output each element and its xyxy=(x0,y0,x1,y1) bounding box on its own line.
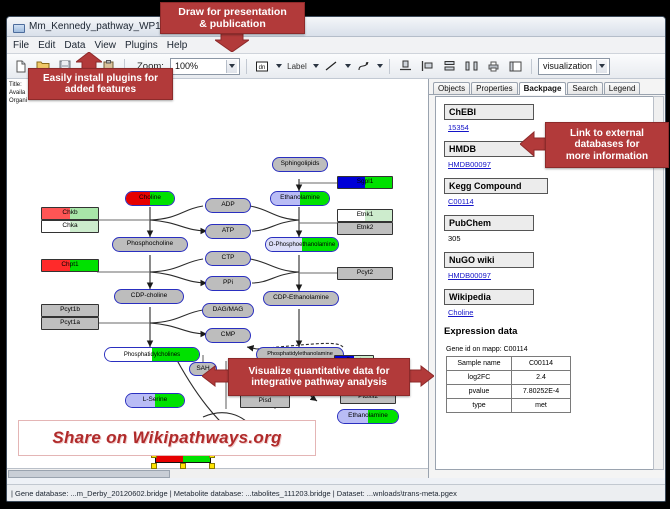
node-l-serine-left[interactable]: L-Serine xyxy=(125,393,185,408)
node-ethanolamine-bottom[interactable]: Ethanolamine xyxy=(337,409,399,424)
callout-external-links: Link to external databases for more info… xyxy=(545,122,669,168)
node-label: Ethanolamine xyxy=(280,195,320,202)
cell-value: 7.80252E-4 xyxy=(512,385,571,399)
cell-key: type xyxy=(447,399,512,413)
menu-bar: File Edit Data View Plugins Help xyxy=(7,37,665,54)
section-header-pubchem: PubChem xyxy=(444,215,534,231)
node-label: Ethanolamine xyxy=(348,413,388,420)
callout-draw-for-publication: Draw for presentation & publication xyxy=(160,2,305,34)
chevron-down-icon[interactable] xyxy=(377,64,383,68)
screenshot-root: Mm_Kennedy_pathway_WP1771_45176.gpml Fil… xyxy=(0,0,670,509)
align-bottom-icon[interactable] xyxy=(396,57,415,76)
gene-label: Pcyt1a xyxy=(60,320,80,327)
selection-handle[interactable] xyxy=(209,463,215,469)
chevron-down-icon[interactable] xyxy=(313,64,319,68)
gene-label: Pcyt2 xyxy=(357,270,373,277)
node-sphingolipids[interactable]: Sphingolipids xyxy=(272,157,328,172)
toolbar-separator xyxy=(389,59,390,74)
svg-text:dn: dn xyxy=(259,65,266,71)
node-label: PPi xyxy=(223,280,233,287)
tab-legend[interactable]: Legend xyxy=(604,82,641,94)
menu-item-file[interactable]: File xyxy=(13,40,29,51)
interaction-icon[interactable] xyxy=(354,57,373,76)
cell-value: 2.4 xyxy=(512,371,571,385)
callout-line: Draw for presentation xyxy=(178,6,287,18)
toolbar-separator xyxy=(531,59,532,74)
sidebar-tabs: Objects Properties Backpage Search Legen… xyxy=(429,79,665,95)
gene-label: Chka xyxy=(62,223,77,230)
datanode-icon[interactable]: dn xyxy=(253,57,272,76)
node-label: CDP-choline xyxy=(131,293,168,300)
status-text: | Gene database: ...m_Derby_20120602.bri… xyxy=(11,489,457,498)
callout-visualize-data: Visualize quantitative data for integrat… xyxy=(228,358,410,396)
node-atp[interactable]: ATP xyxy=(205,224,251,239)
sidebar-icon[interactable] xyxy=(506,57,525,76)
callout-line: & publication xyxy=(199,18,266,30)
callout-arrow-left-icon xyxy=(202,364,230,388)
expression-table: Sample name C00114 log2FC 2.4 pvalue 7.8… xyxy=(446,356,571,413)
align-left-icon[interactable] xyxy=(418,57,437,76)
node-choline-top[interactable]: Choline xyxy=(125,191,175,206)
tab-backpage[interactable]: Backpage xyxy=(519,82,567,95)
nugo-link[interactable]: HMDB00097 xyxy=(448,271,658,280)
gene-chpt1[interactable]: Chpt1 xyxy=(41,259,99,272)
section-header-chebi: ChEBI xyxy=(444,104,534,120)
selection-handle[interactable] xyxy=(180,463,186,469)
gene-etnk1[interactable]: Etnk1 xyxy=(337,209,393,222)
node-label: CDP-Ethanolamine xyxy=(273,295,329,302)
menu-item-data[interactable]: Data xyxy=(64,40,85,51)
node-label: CTP xyxy=(222,255,235,262)
toolbar-separator xyxy=(246,59,247,74)
tab-objects[interactable]: Objects xyxy=(433,82,470,94)
gene-pcyt1a[interactable]: Pcyt1a xyxy=(41,317,99,330)
distribute-icon[interactable] xyxy=(462,57,481,76)
pathvisio-app-icon xyxy=(12,21,24,33)
zoom-value: 100% xyxy=(175,61,198,71)
gene-label: Etnk1 xyxy=(357,212,374,219)
cell-key: pvalue xyxy=(447,385,512,399)
chevron-down-icon[interactable] xyxy=(276,64,282,68)
table-row: log2FC 2.4 xyxy=(447,371,571,385)
node-label: Choline xyxy=(139,195,161,202)
node-label: Phosphatidylethanolamine xyxy=(267,352,333,358)
node-label: Sphingolipids xyxy=(281,161,320,168)
chevron-down-icon[interactable] xyxy=(226,60,237,73)
node-cdp-ethanolamine[interactable]: CDP-Ethanolamine xyxy=(263,291,339,306)
callout-line: Easily install plugins for xyxy=(43,73,158,85)
section-header-wikipedia: Wikipedia xyxy=(444,289,534,305)
status-bar: | Gene database: ...m_Derby_20120602.bri… xyxy=(7,484,666,501)
chevron-down-icon[interactable] xyxy=(596,60,607,73)
node-label: O-Phosphoethanolamine xyxy=(269,242,335,248)
wikipedia-link[interactable]: Choline xyxy=(448,308,658,317)
node-cdp-choline[interactable]: CDP-choline xyxy=(114,289,184,304)
cell-value: C00114 xyxy=(512,357,571,371)
gene-label: Chkb xyxy=(62,210,77,217)
callout-line: added features xyxy=(65,84,136,96)
visualization-value: visualization xyxy=(543,61,592,71)
node-dag-mag[interactable]: DAG/MAG xyxy=(202,303,254,318)
callout-line: more information xyxy=(566,151,648,163)
tab-search[interactable]: Search xyxy=(567,82,602,94)
title-bar: Mm_Kennedy_pathway_WP1771_45176.gpml xyxy=(7,17,665,37)
selection-handle[interactable] xyxy=(151,463,157,469)
callout-arrow-right-icon xyxy=(406,364,434,388)
node-ppi[interactable]: PPi xyxy=(205,276,251,291)
line-icon[interactable] xyxy=(322,57,341,76)
callout-line: integrative pathway analysis xyxy=(251,377,387,389)
gene-chka[interactable]: Chka xyxy=(41,220,99,233)
chevron-down-icon[interactable] xyxy=(345,64,351,68)
node-label: CMP xyxy=(221,332,235,339)
node-phosphatidylcholines[interactable]: Phosphatidylcholines xyxy=(104,347,200,362)
menu-item-edit[interactable]: Edit xyxy=(38,40,55,51)
cell-key: log2FC xyxy=(447,371,512,385)
node-cmp[interactable]: CMP xyxy=(205,328,251,343)
zoom-combo[interactable]: 100% xyxy=(170,58,240,75)
node-label: Phosphocholine xyxy=(127,241,173,248)
cell-value: met xyxy=(512,399,571,413)
share-text: Share on Wikipathways.org xyxy=(52,428,281,448)
scrollbar-thumb[interactable] xyxy=(8,470,170,478)
node-label: Phosphatidylcholines xyxy=(124,352,180,358)
pathway-canvas[interactable]: Title: Availa Organi xyxy=(7,79,429,478)
gene-pcyt1b[interactable]: Pcyt1b xyxy=(41,304,99,317)
callout-line: Link to external xyxy=(570,128,644,140)
table-row: pvalue 7.80252E-4 xyxy=(447,385,571,399)
gene-pisd[interactable]: Pisd xyxy=(240,395,290,408)
gene-chkb[interactable]: Chkb xyxy=(41,207,99,220)
pubchem-value: 305 xyxy=(448,234,658,243)
menu-item-view[interactable]: View xyxy=(94,40,116,51)
callout-line: databases for xyxy=(574,139,639,151)
node-ethanolamine-top[interactable]: Ethanolamine xyxy=(270,191,330,206)
cell-key: Sample name xyxy=(447,357,512,371)
section-header-nugo: NuGO wiki xyxy=(444,252,534,268)
visualization-combo[interactable]: visualization xyxy=(538,58,610,75)
node-label: DAG/MAG xyxy=(213,307,244,314)
node-label: ATP xyxy=(222,228,234,235)
gene-label: Etnk2 xyxy=(357,225,374,232)
print-icon[interactable] xyxy=(484,57,503,76)
table-row: type met xyxy=(447,399,571,413)
menu-item-plugins[interactable]: Plugins xyxy=(125,40,158,51)
callout-install-plugins: Easily install plugins for added feature… xyxy=(28,68,173,100)
node-label: ADP xyxy=(221,202,234,209)
section-header-kegg: Kegg Compound xyxy=(444,178,548,194)
gene-sgpl1[interactable]: Sgpl1 xyxy=(337,176,393,189)
kegg-link[interactable]: C00114 xyxy=(448,197,658,206)
label-icon[interactable]: Label xyxy=(285,57,309,76)
gene-pcyt2[interactable]: Pcyt2 xyxy=(337,267,393,280)
menu-item-help[interactable]: Help xyxy=(167,40,188,51)
gene-label: Pcyt1b xyxy=(60,307,80,314)
callout-arrow-left-icon xyxy=(520,130,548,158)
gene-etnk2[interactable]: Etnk2 xyxy=(337,222,393,235)
callout-line: Visualize quantitative data for xyxy=(249,366,390,378)
gene-label: Sgpl1 xyxy=(357,179,374,186)
share-banner: Share on Wikipathways.org xyxy=(18,420,316,456)
expression-data-heading: Expression data xyxy=(444,326,658,337)
node-ctp[interactable]: CTP xyxy=(205,251,251,266)
node-phosphocholine[interactable]: Phosphocholine xyxy=(112,237,188,252)
node-o-phosphoethanolamine[interactable]: O-Phosphoethanolamine xyxy=(265,237,339,252)
tab-properties[interactable]: Properties xyxy=(471,82,517,94)
gene-id-line: Gene id on mapp: C00114 xyxy=(446,346,658,353)
canvas-horizontal-scrollbar[interactable] xyxy=(7,468,428,478)
stack-icon[interactable] xyxy=(440,57,459,76)
table-row: Sample name C00114 xyxy=(447,357,571,371)
node-label: L-Serine xyxy=(143,397,168,404)
node-adp[interactable]: ADP xyxy=(205,198,251,213)
gene-label: Chpt1 xyxy=(61,262,78,269)
gene-label: Pisd xyxy=(259,398,272,405)
